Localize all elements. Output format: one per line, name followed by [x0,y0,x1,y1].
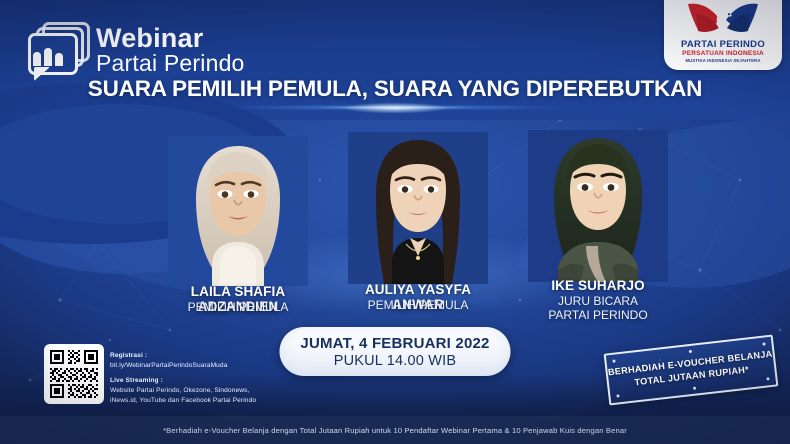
vignette-overlay [0,0,790,444]
webinar-poster: Webinar Partai Perindo PARTAI PERINDO PE… [0,0,790,444]
